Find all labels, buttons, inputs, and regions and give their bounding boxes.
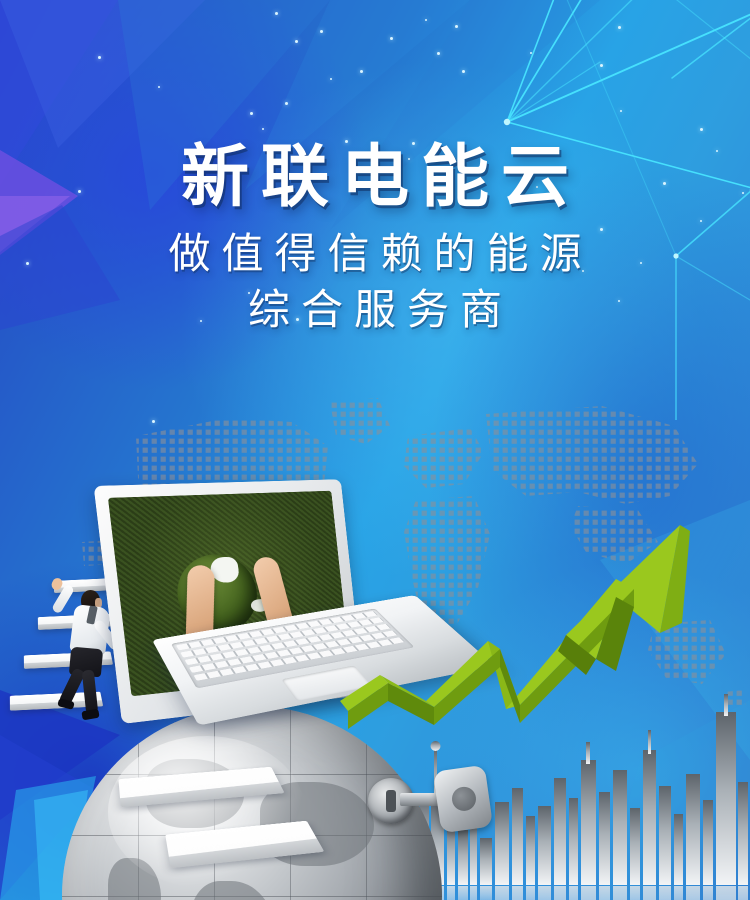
left-hand-icon <box>185 564 215 664</box>
briefcase-icon <box>120 622 154 664</box>
laptop-base <box>152 595 495 725</box>
promotional-banner: 新联电能云 做值得信赖的能源 综合服务商 <box>0 0 750 900</box>
floating-stair-1 <box>10 692 103 711</box>
floating-stair-2 <box>24 651 113 668</box>
floating-stair-3 <box>38 613 123 630</box>
globe-sphere-icon <box>62 706 442 900</box>
city-skyline-icon <box>400 690 750 900</box>
screen-green-globe-icon <box>173 552 261 636</box>
polygon-facets-decoration <box>0 0 750 900</box>
growth-arrow-icon <box>330 505 690 735</box>
background-wash-bottom-right <box>420 560 750 900</box>
laptop-keyboard <box>171 608 415 688</box>
key-icon <box>433 765 493 834</box>
key-shaft-icon <box>400 793 448 806</box>
right-hand-icon <box>251 555 302 658</box>
laptop-icon: SAVING WORLD PROTECT OUR GREEN PLANET <box>94 479 364 724</box>
screen-subcaption: PROTECT OUR GREEN PLANET <box>129 649 349 676</box>
laptop-screen: SAVING WORLD PROTECT OUR GREEN PLANET <box>108 491 351 697</box>
laptop-trackpad <box>281 665 372 701</box>
artwork-composition: SAVING WORLD PROTECT OUR GREEN PLANET <box>0 0 750 900</box>
subtitle-line-1: 做值得信赖的能源 <box>0 226 750 282</box>
background-wash-bottom-left <box>0 560 300 900</box>
floating-slab-lower <box>165 821 324 869</box>
keyhole-icon <box>368 778 414 824</box>
floating-stair-4 <box>54 577 135 593</box>
screen-caption: SAVING WORLD <box>127 637 348 669</box>
floating-slab-upper <box>118 767 284 808</box>
page-title: 新联电能云 <box>0 138 750 216</box>
subtitle-block: 做值得信赖的能源 综合服务商 <box>0 226 750 338</box>
subtitle-line-2: 综合服务商 <box>0 282 750 338</box>
dotted-world-map-icon <box>78 392 750 792</box>
headline-block: 新联电能云 做值得信赖的能源 综合服务商 <box>0 138 750 338</box>
